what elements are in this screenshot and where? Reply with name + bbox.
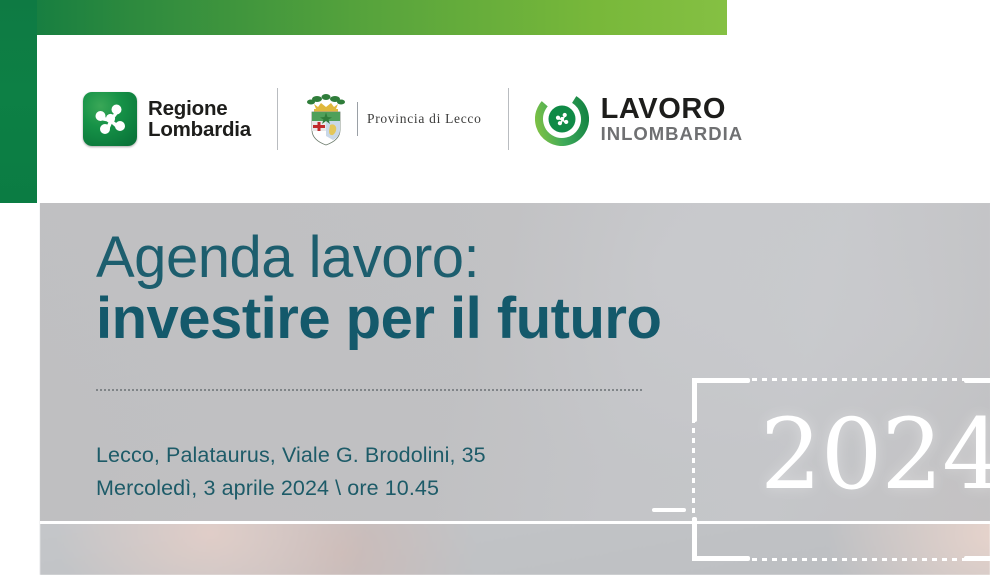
lavoro-ring-icon [535,92,589,146]
logo-provincia-di-lecco: Provincia di Lecco [304,90,482,148]
page-title: Agenda lavoro: investire per il futuro [96,228,796,350]
year-frame-corner-bottom-left-v [692,517,697,561]
event-poster-slide: Regione Lombardia [0,0,990,575]
event-details: Lecco, Palataurus, Viale G. Brodolini, 3… [96,439,486,504]
logo-divider-2 [508,88,509,150]
year-frame-corner-bottom-left-h [692,556,750,561]
event-year: 2024 [760,406,990,503]
regione-lombardia-line1: Regione [148,98,251,119]
year-frame-corner-bottom-right-h [964,556,990,561]
year-frame-corner-top-left-v [692,378,697,422]
lombardy-rose-icon [83,92,137,146]
logo-lavoro-in-lombardia: LAVORO INLOMBARDIA [535,92,744,146]
regione-lombardia-line2: Lombardia [148,119,251,140]
year-frame-left-tick [652,508,686,512]
lavoro-line1: LAVORO [601,95,744,124]
regione-lombardia-wordmark: Regione Lombardia [148,98,251,140]
title-line-1: Agenda lavoro: [96,228,796,288]
logo-divider-1 [277,88,278,150]
lavoro-line2: INLOMBARDIA [601,125,744,144]
provincia-di-lecco-label: Provincia di Lecco [367,111,482,127]
lavoro-wordmark: LAVORO INLOMBARDIA [601,95,744,144]
logo-header-band: Regione Lombardia [37,35,990,203]
logo-regione-lombardia: Regione Lombardia [83,92,251,146]
green-left-bar [0,0,37,203]
logo-row: Regione Lombardia [83,88,743,150]
event-venue-line: Lecco, Palataurus, Viale G. Brodolini, 3… [96,439,486,472]
provincia-label-separator [357,102,358,136]
title-line-2: investire per il futuro [96,289,796,350]
dotted-divider [96,389,644,391]
year-frame-corner-top-right-h [964,378,990,383]
event-date-line: Mercoledì, 3 aprile 2024 \ ore 10.45 [96,472,486,505]
year-frame-corner-top-left-h [692,378,750,383]
green-top-bar [0,0,727,35]
year-frame: 2024 [692,378,990,561]
lecco-crest-icon [304,90,348,148]
